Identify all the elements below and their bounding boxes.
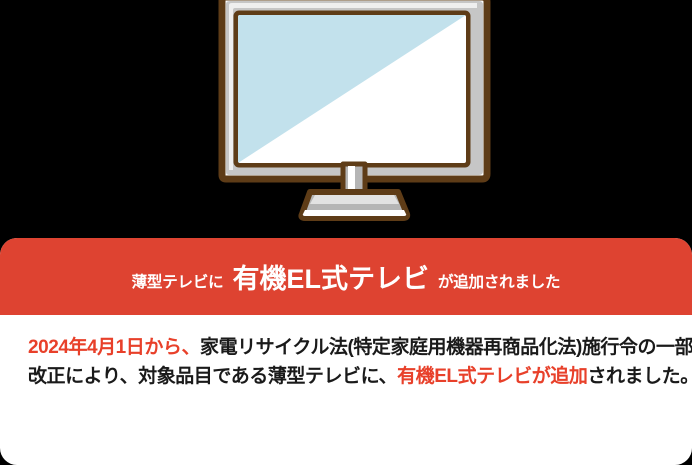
body-line-2-lead: 改正により、対象品目である薄型テレビに、: [28, 366, 397, 387]
headline-emphasis: 有機EL式テレビ: [232, 257, 429, 296]
body-paragraph: 2024年4月1日から、家電リサイクル法(特定家庭用機器再商品化法)施行令の一部…: [28, 333, 670, 391]
tv-stand-base-shadow: [303, 210, 406, 216]
body-line-1-highlight: 2024年4月1日から、: [28, 337, 200, 358]
body-line-1-rest: 家電リサイクル法(特定家庭用機器再商品化法)施行令の一部: [200, 337, 692, 358]
tv-stand-neck-highlight: [348, 166, 355, 193]
television-illustration: [205, 0, 505, 232]
headline-suffix: が追加されました: [438, 270, 560, 292]
promo-banner-graphic: 薄型テレビに 有機EL式テレビ が追加されました 2024年4月1日から、家電リ…: [0, 0, 692, 465]
headline-prefix: 薄型テレビに: [132, 270, 224, 292]
tv-stand-base-highlight: [310, 195, 399, 204]
body-line-2-tail: されました。: [587, 366, 692, 387]
body-line-2-highlight: 有機EL式テレビが追加: [397, 366, 587, 387]
headline-text: 薄型テレビに 有機EL式テレビ が追加されました: [132, 256, 561, 295]
info-card: 薄型テレビに 有機EL式テレビ が追加されました 2024年4月1日から、家電リ…: [0, 238, 692, 465]
headline-banner: 薄型テレビに 有機EL式テレビ が追加されました: [0, 238, 692, 315]
body-area: 2024年4月1日から、家電リサイクル法(特定家庭用機器再商品化法)施行令の一部…: [0, 315, 692, 465]
tv-screen: [238, 15, 466, 163]
body-line-2: 改正により、対象品目である薄型テレビに、有機EL式テレビが追加されました。: [28, 362, 670, 391]
body-line-1: 2024年4月1日から、家電リサイクル法(特定家庭用機器再商品化法)施行令の一部: [28, 333, 670, 362]
